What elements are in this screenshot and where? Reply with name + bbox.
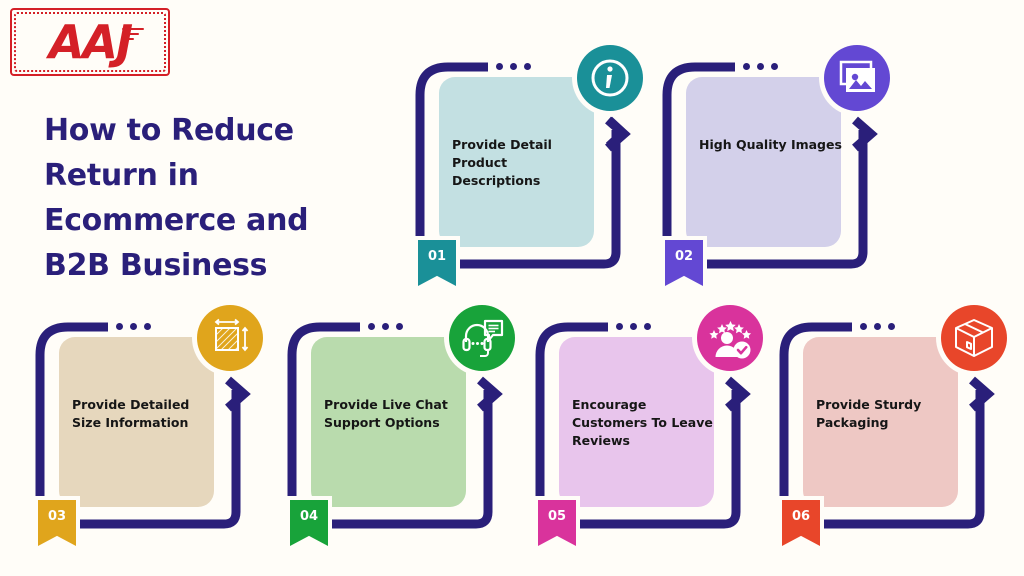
headset-chat-icon [449,305,515,371]
step-card-03[interactable]: Provide Detailed Size Information 03 [28,310,278,540]
page-title: How to Reduce Return in Ecommerce and B2… [44,108,344,288]
step-number: 05 [538,509,576,524]
step-dots [616,323,651,330]
step-number: 04 [290,509,328,524]
step-icon-wrap [572,40,648,116]
info-circle-icon [577,45,643,111]
photos-gallery-icon [824,45,890,111]
step-label: Provide Sturdy Packaging [816,396,961,432]
size-dimensions-icon [197,305,263,371]
step-number: 02 [665,249,703,264]
step-icon-wrap [192,300,268,376]
step-icon-wrap [936,300,1012,376]
step-icon-wrap [692,300,768,376]
step-number: 01 [418,249,456,264]
step-icon-wrap [819,40,895,116]
step-card-04[interactable]: Provide Live Chat Support Options 04 [280,310,530,540]
step-number-badge: 02 [665,240,703,286]
step-card-02[interactable]: High Quality Images 02 [655,50,905,280]
step-number: 06 [782,509,820,524]
step-icon-wrap [444,300,520,376]
step-dots [860,323,895,330]
step-label: Provide Detail Product Descriptions [452,136,597,190]
step-dots [368,323,403,330]
logo-wordmark: AAJ [10,14,170,70]
step-card-05[interactable]: Encourage Customers To Leave Reviews 05 [528,310,778,540]
step-dots [496,63,531,70]
step-number-badge: 05 [538,500,576,546]
package-box-icon [941,305,1007,371]
step-body [686,77,841,247]
step-number-badge: 06 [782,500,820,546]
step-card-06[interactable]: Provide Sturdy Packaging 06 [772,310,1022,540]
step-number-badge: 04 [290,500,328,546]
step-dots [743,63,778,70]
aaj-logo: AAJ [10,8,170,76]
customer-reviews-stars-icon [697,305,763,371]
step-number-badge: 03 [38,500,76,546]
speed-lines-icon [122,28,144,43]
step-label: Provide Live Chat Support Options [324,396,469,432]
step-label: High Quality Images [699,136,844,154]
step-number-badge: 01 [418,240,456,286]
step-number: 03 [38,509,76,524]
step-label: Provide Detailed Size Information [72,396,217,432]
infographic-canvas: AAJ How to Reduce Return in Ecommerce an… [0,0,1024,576]
step-card-01[interactable]: Provide Detail Product Descriptions 01 [408,50,658,280]
step-label: Encourage Customers To Leave Reviews [572,396,717,450]
step-dots [116,323,151,330]
